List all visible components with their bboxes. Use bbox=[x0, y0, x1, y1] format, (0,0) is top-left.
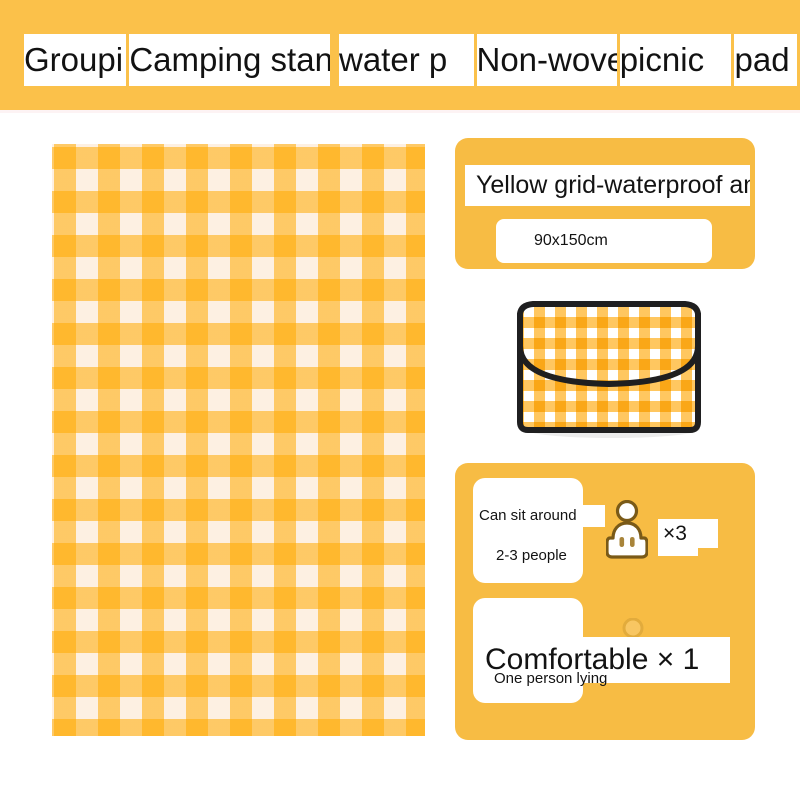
variant-title-label: Yellow grid-waterproof and m bbox=[465, 165, 750, 206]
product-detail-image: Groupi Camping stand water p Non-wove pi… bbox=[0, 0, 800, 800]
folded-pouch-photo bbox=[513, 296, 705, 438]
header-word-4: Non-wove bbox=[477, 34, 617, 86]
header-title-row: Groupi Camping stand water p Non-wove pi… bbox=[0, 34, 800, 86]
header-word-2: Camping stand bbox=[129, 34, 330, 86]
sit-count-notch bbox=[658, 548, 698, 556]
header-word-gap bbox=[333, 34, 336, 86]
size-chip: 90x150cm bbox=[496, 219, 712, 263]
header-word-1: Groupi bbox=[24, 34, 126, 86]
sit-capacity-count: ×3 bbox=[658, 519, 718, 548]
sit-capacity-line-1: Can sit around bbox=[479, 505, 605, 527]
picnic-mat-photo bbox=[52, 144, 425, 736]
header-word-5: picnic bbox=[620, 34, 732, 86]
sit-capacity-card bbox=[473, 478, 583, 583]
pouch-illustration bbox=[513, 296, 705, 438]
header-word-3: water p bbox=[339, 34, 474, 86]
person-sitting-icon bbox=[606, 500, 648, 562]
sit-capacity-line-2: 2-3 people bbox=[496, 545, 578, 567]
header-word-6: pad bbox=[734, 34, 797, 86]
header-divider bbox=[0, 110, 800, 113]
lie-capacity-line: One person lying bbox=[494, 668, 642, 690]
